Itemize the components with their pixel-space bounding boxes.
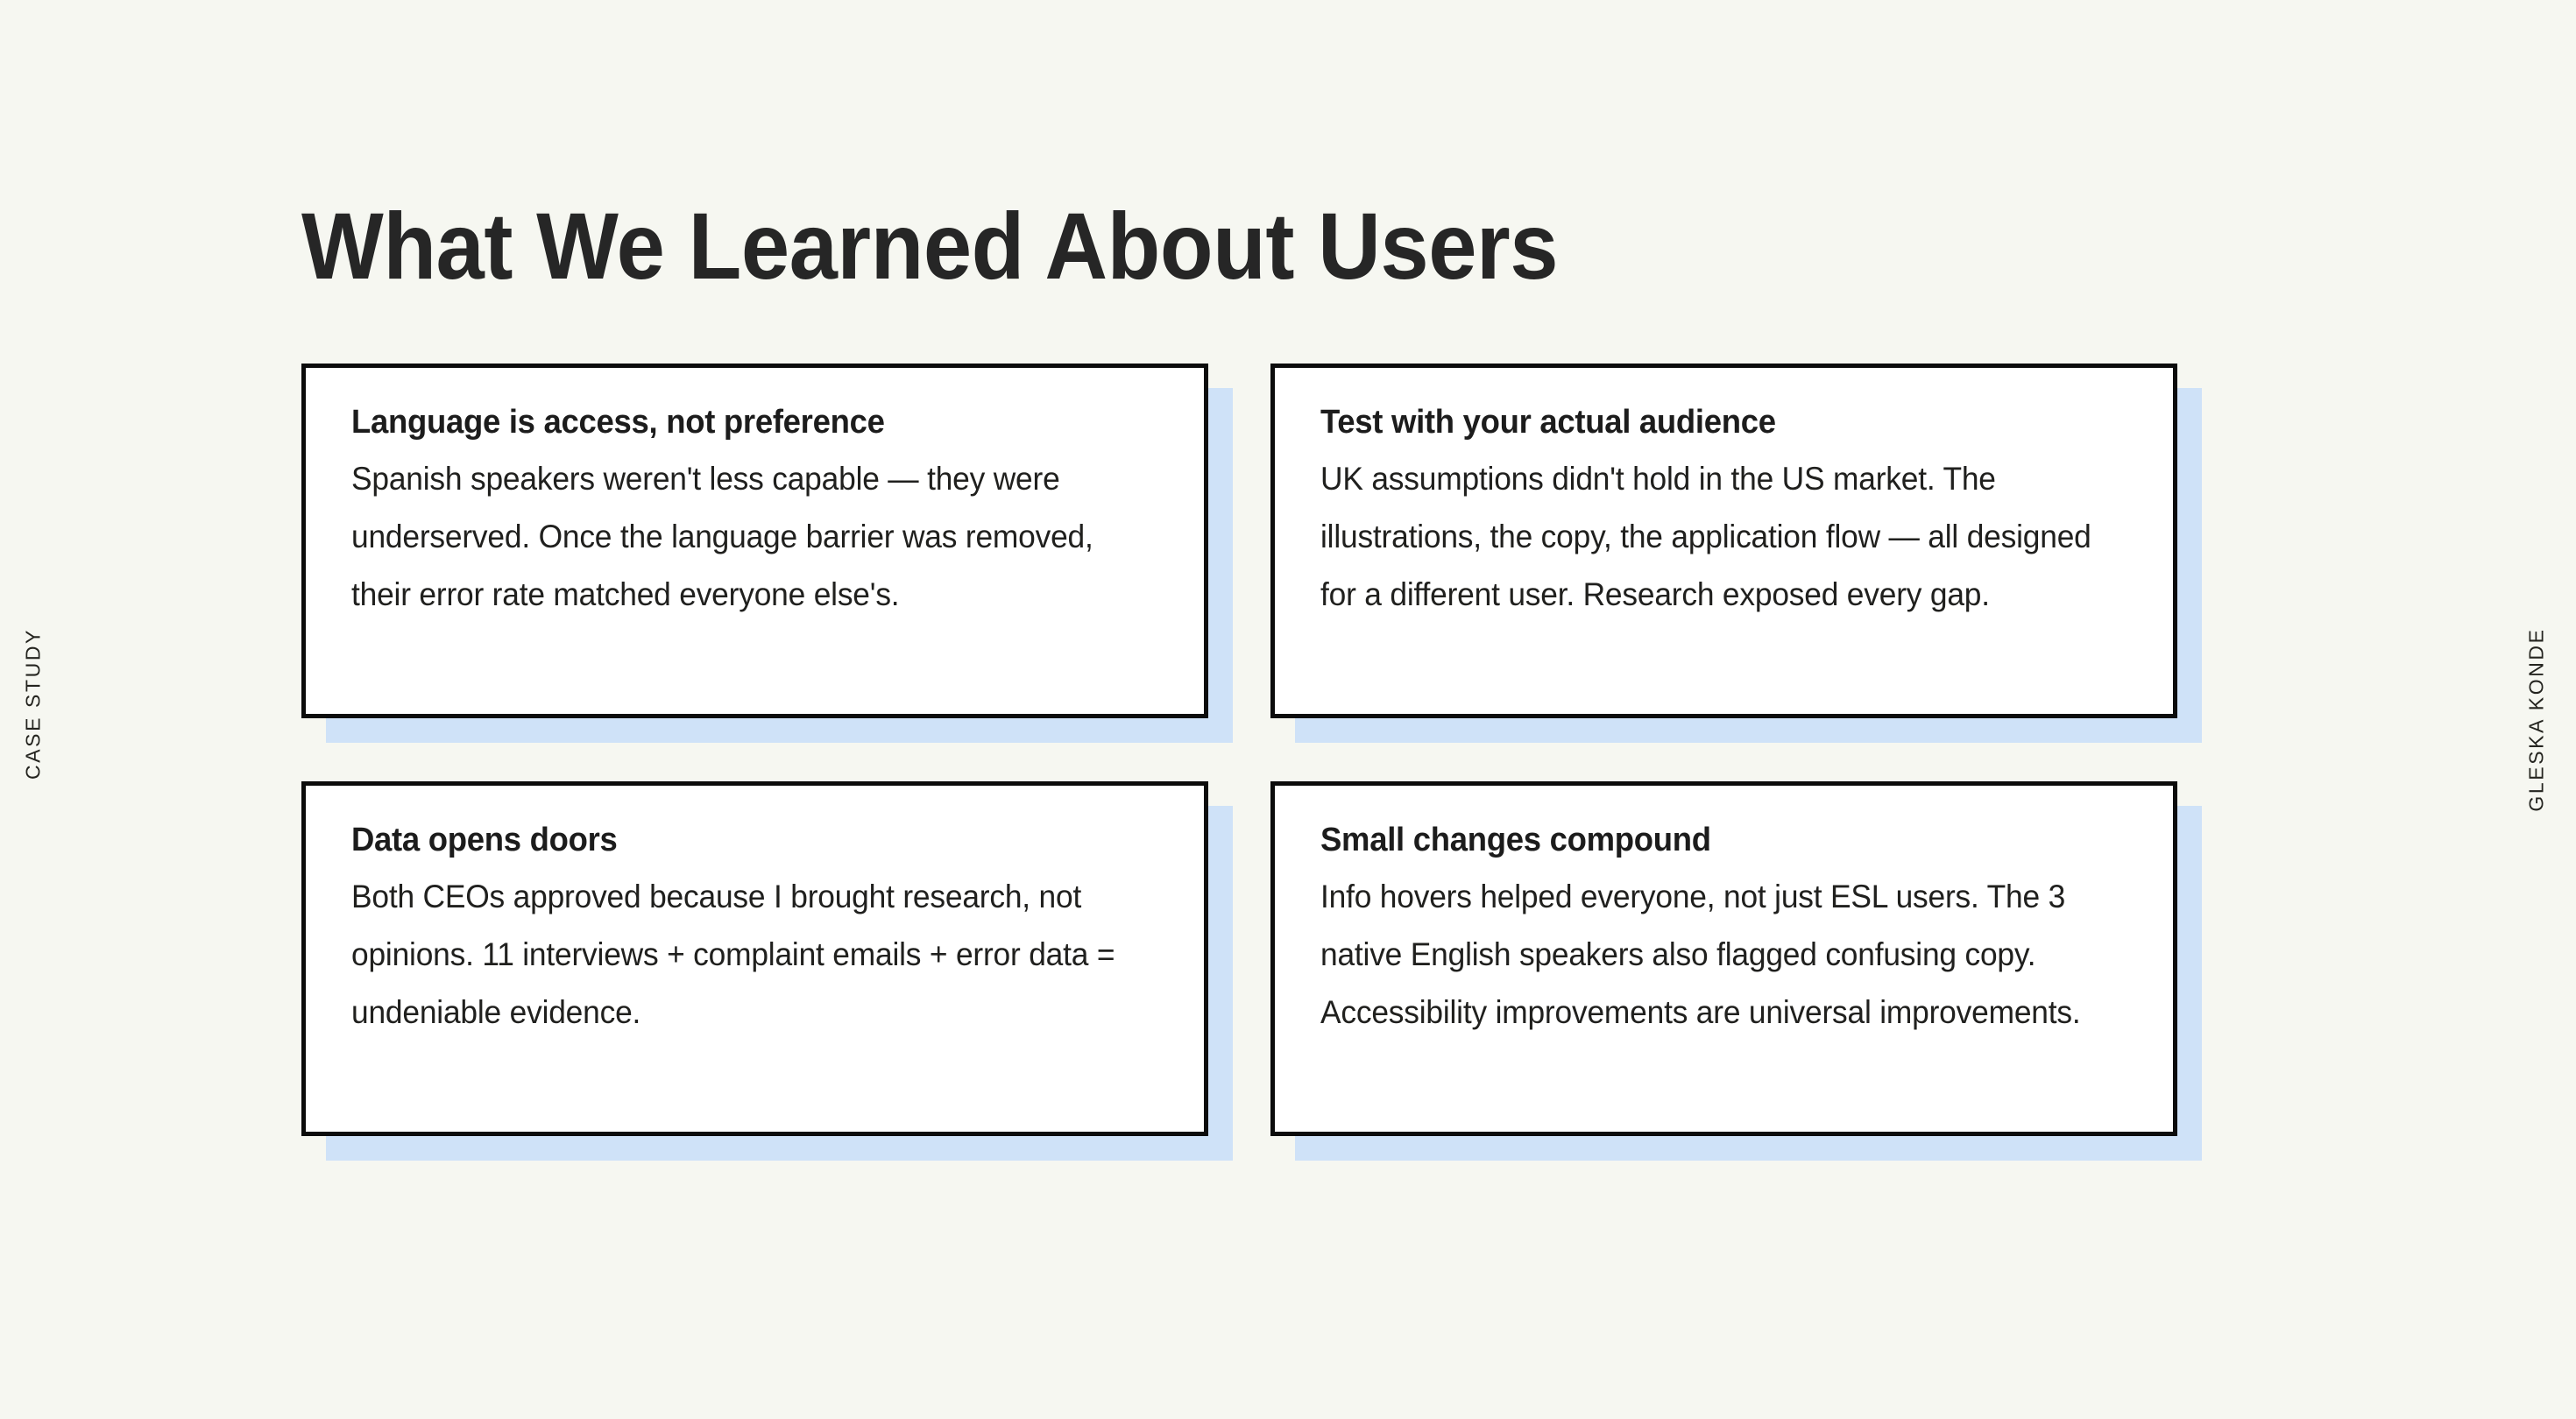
side-label-case-study: CASE STUDY	[22, 617, 46, 792]
insight-card: Test with your actual audience UK assump…	[1270, 364, 2177, 718]
card-heading: Language is access, not preference	[351, 401, 1126, 443]
card-body: Info hovers helped everyone, not just ES…	[1320, 868, 2122, 1041]
insight-card: Data opens doors Both CEOs approved beca…	[301, 781, 1208, 1136]
insight-card: Small changes compound Info hovers helpe…	[1270, 781, 2177, 1136]
side-label-brand: GLESKA KONDE	[2525, 619, 2549, 821]
card-face: Data opens doors Both CEOs approved beca…	[301, 781, 1208, 1136]
insight-card: Language is access, not preference Spani…	[301, 364, 1208, 718]
card-heading: Small changes compound	[1320, 819, 2095, 861]
card-face: Test with your actual audience UK assump…	[1270, 364, 2177, 718]
card-body: Both CEOs approved because I brought res…	[351, 868, 1153, 1041]
card-face: Language is access, not preference Spani…	[301, 364, 1208, 718]
card-face: Small changes compound Info hovers helpe…	[1270, 781, 2177, 1136]
insight-card-grid: Language is access, not preference Spani…	[301, 364, 2201, 1136]
page-title: What We Learned About Users	[301, 194, 1558, 298]
card-heading: Test with your actual audience	[1320, 401, 2095, 443]
slide-root: CASE STUDY GLESKA KONDE What We Learned …	[0, 0, 2576, 1419]
card-body: Spanish speakers weren't less capable — …	[351, 450, 1153, 624]
card-body: UK assumptions didn't hold in the US mar…	[1320, 450, 2122, 624]
card-heading: Data opens doors	[351, 819, 1126, 861]
